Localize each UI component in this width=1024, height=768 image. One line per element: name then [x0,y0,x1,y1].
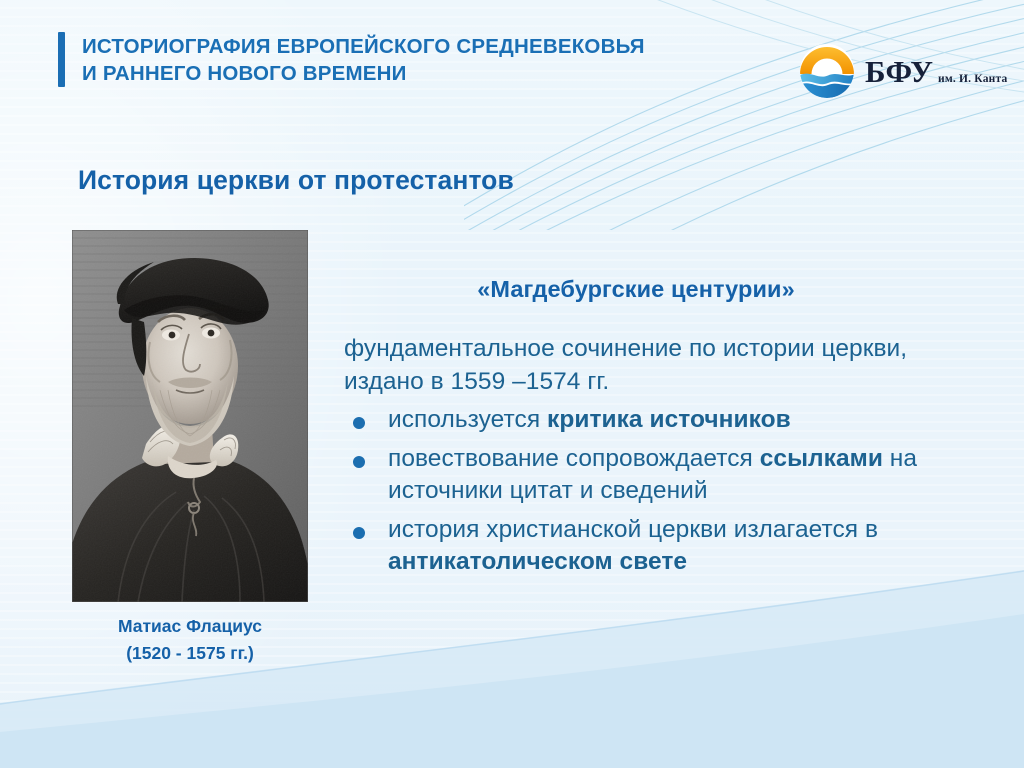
presentation-slide: ИСТОРИОГРАФИЯ ЕВРОПЕЙСКОГО СРЕДНЕВЕКОВЬЯ… [0,0,1024,768]
list-item: повествование сопровождается ссылками на… [344,443,984,508]
list-item-label: повествование сопровождается ссылками на… [388,445,917,505]
logo-text-block: БФУ им. И. Канта [865,56,1007,87]
portrait-caption: Матиас Флациус (1520 - 1575 гг.) [72,613,308,667]
list-item-label: используется критика источников [388,406,791,433]
header-accent-bar [58,32,65,87]
content-column: «Магдебургские центурии» фундаментальное… [344,276,984,579]
bfu-emblem-icon [798,42,856,100]
bullet-dot-icon [353,417,365,429]
portrait-figure: Матиас Флациус (1520 - 1575 гг.) [72,230,308,667]
bullet-dot-icon [353,527,365,539]
header-title: ИСТОРИОГРАФИЯ ЕВРОПЕЙСКОГО СРЕДНЕВЕКОВЬЯ… [82,32,645,87]
list-item: история христианской церкви излагается в… [344,514,984,579]
logo-name: БФУ [865,54,934,89]
portrait-image [72,230,308,602]
work-title: «Магдебургские центурии» [344,276,984,303]
bullet-dot-icon [353,456,365,468]
university-logo: БФУ им. И. Канта [798,42,1007,100]
logo-subtitle: им. И. Канта [938,73,1007,85]
lead-paragraph: фундаментальное сочинение по истории цер… [344,332,984,398]
bullet-list: используется критика источниковповествов… [344,404,984,579]
slide-header: ИСТОРИОГРАФИЯ ЕВРОПЕЙСКОГО СРЕДНЕВЕКОВЬЯ… [58,32,645,87]
page-title: История церкви от протестантов [78,165,514,196]
list-item-label: история христианской церкви излагается в… [388,516,878,576]
list-item: используется критика источников [344,404,984,437]
